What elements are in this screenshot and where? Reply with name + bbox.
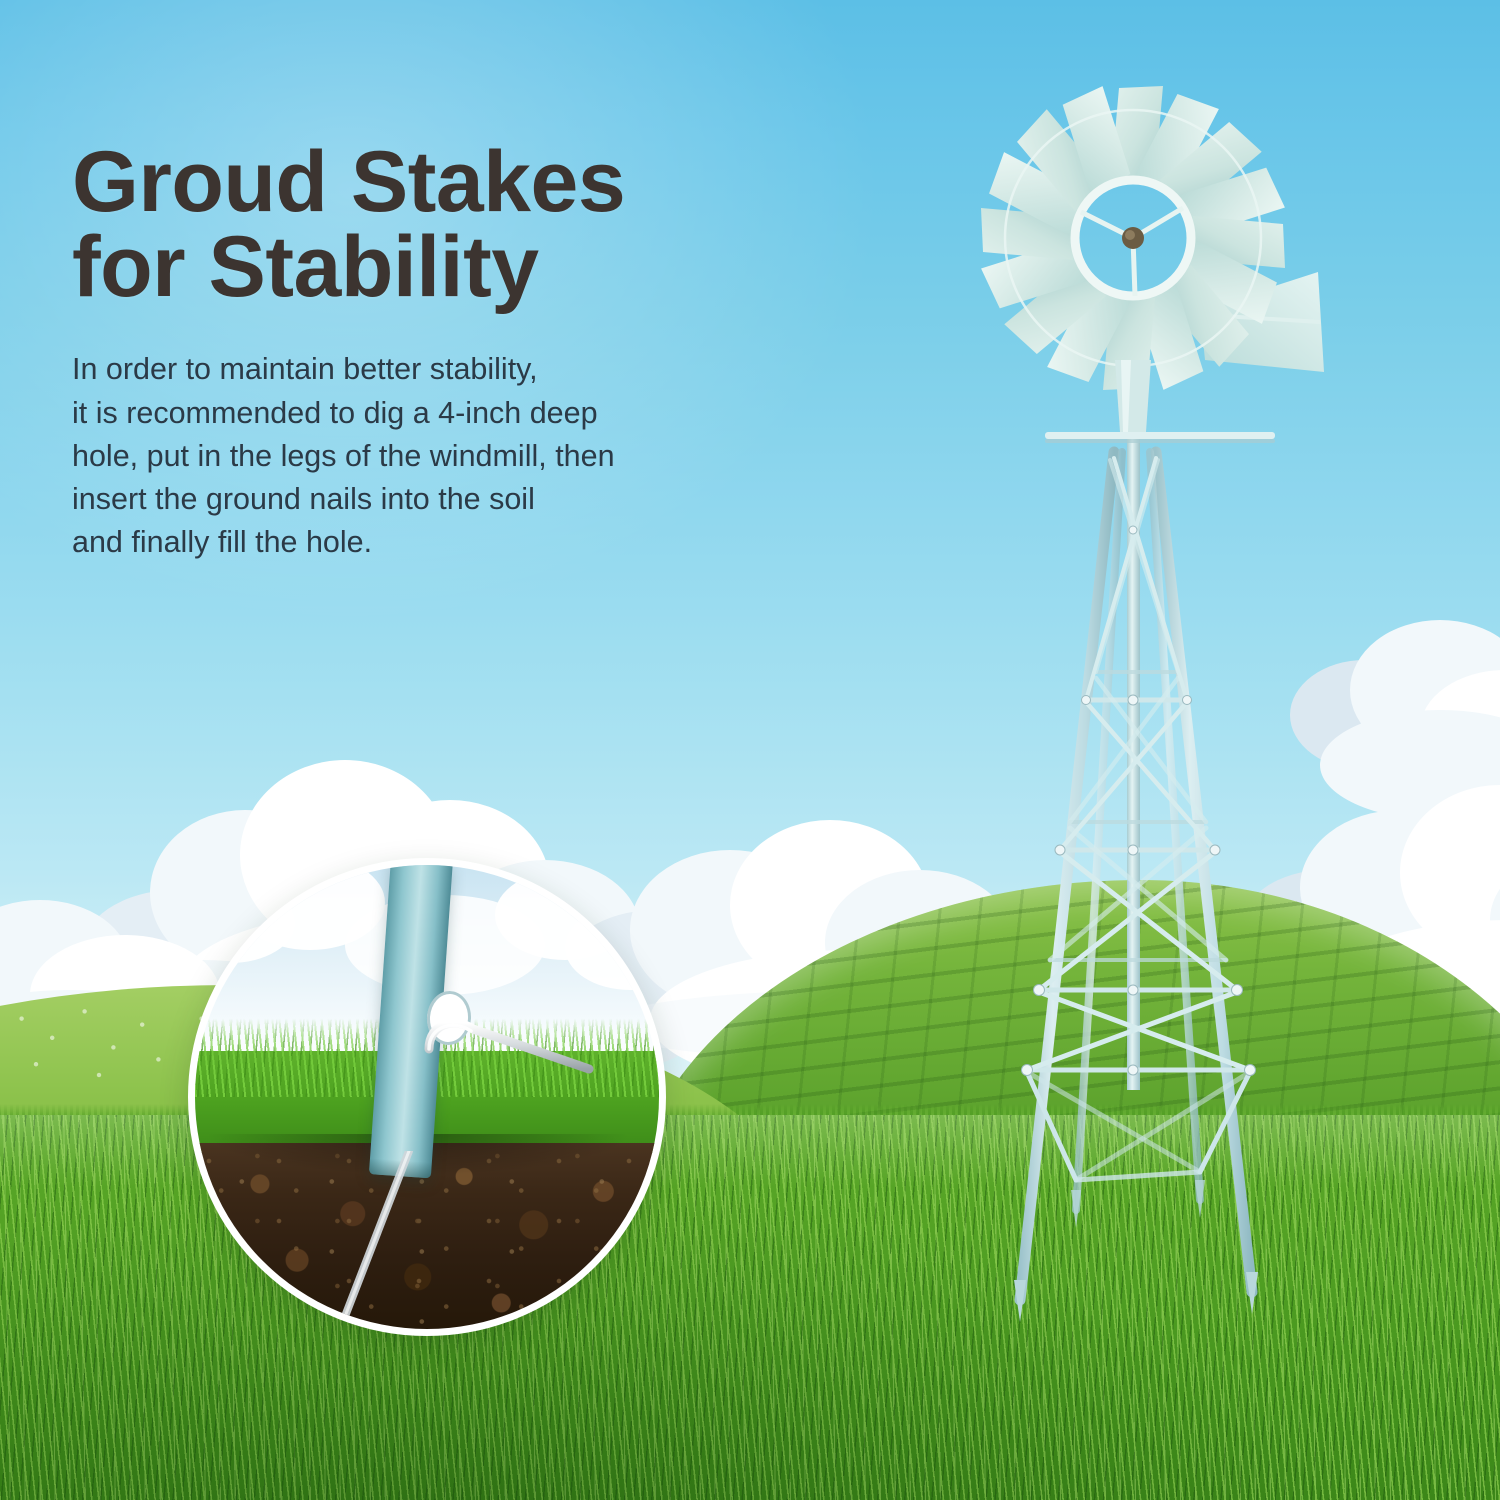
description-line-2: it is recommended to dig a 4-inch deep: [72, 392, 832, 435]
inset-nail-buried: [317, 1151, 427, 1336]
description-paragraph: In order to maintain better stability, i…: [72, 348, 832, 564]
ground-stake-detail-inset: [188, 858, 666, 1336]
tower-leg-tips: [1014, 1180, 1258, 1322]
garden-windmill-product: [900, 60, 1420, 1440]
page-title: Groud Stakes for Stability: [72, 140, 832, 310]
description-line-3: hole, put in the legs of the windmill, t…: [72, 435, 832, 478]
windmill-head-housing: [1115, 360, 1151, 432]
headline-line-2: for Stability: [72, 225, 832, 310]
description-line-5: and finally fill the hole.: [72, 521, 832, 564]
nail-shank: [429, 1023, 589, 1069]
windmill-tower: [1014, 390, 1275, 1322]
description-line-1: In order to maintain better stability,: [72, 348, 832, 391]
product-feature-poster: Groud Stakes for Stability In order to m…: [0, 0, 1500, 1500]
headline-line-1: Groud Stakes: [72, 134, 625, 230]
description-line-4: insert the ground nails into the soil: [72, 478, 832, 521]
tower-platform-bar: [1045, 432, 1275, 443]
inset-ground-nail: [421, 1005, 601, 1079]
windmill-wheel: [981, 86, 1285, 390]
copy-block: Groud Stakes for Stability In order to m…: [72, 140, 832, 565]
